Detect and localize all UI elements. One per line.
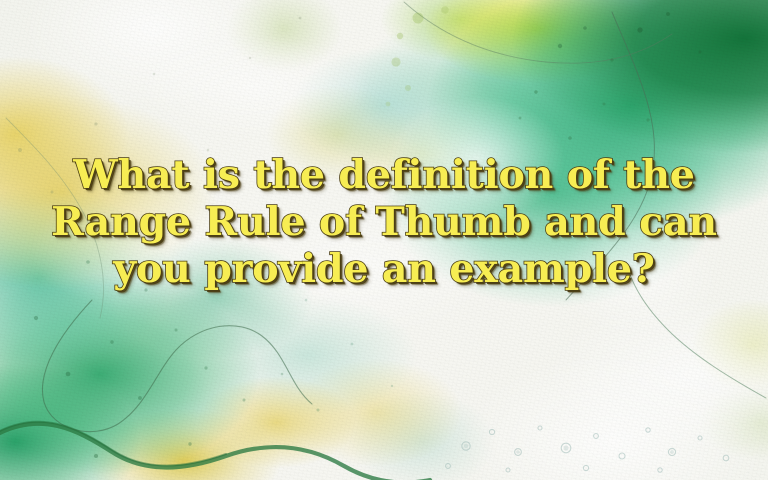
poster-canvas: What is the definition of the Range Rule…	[0, 0, 768, 480]
headline-text-block: What is the definition of the Range Rule…	[0, 152, 768, 293]
headline-line-1: What is the definition of the	[0, 152, 768, 199]
hairline-top-center-sweep	[404, 2, 672, 63]
hairline-lower-left-loop	[42, 300, 312, 432]
thick-bottom-wave-highlight	[0, 422, 226, 466]
headline-line-3: you provide an example?	[0, 246, 768, 293]
thick-bottom-wave	[0, 424, 430, 480]
headline-line-2: Range Rule of Thumb and can	[0, 199, 768, 246]
